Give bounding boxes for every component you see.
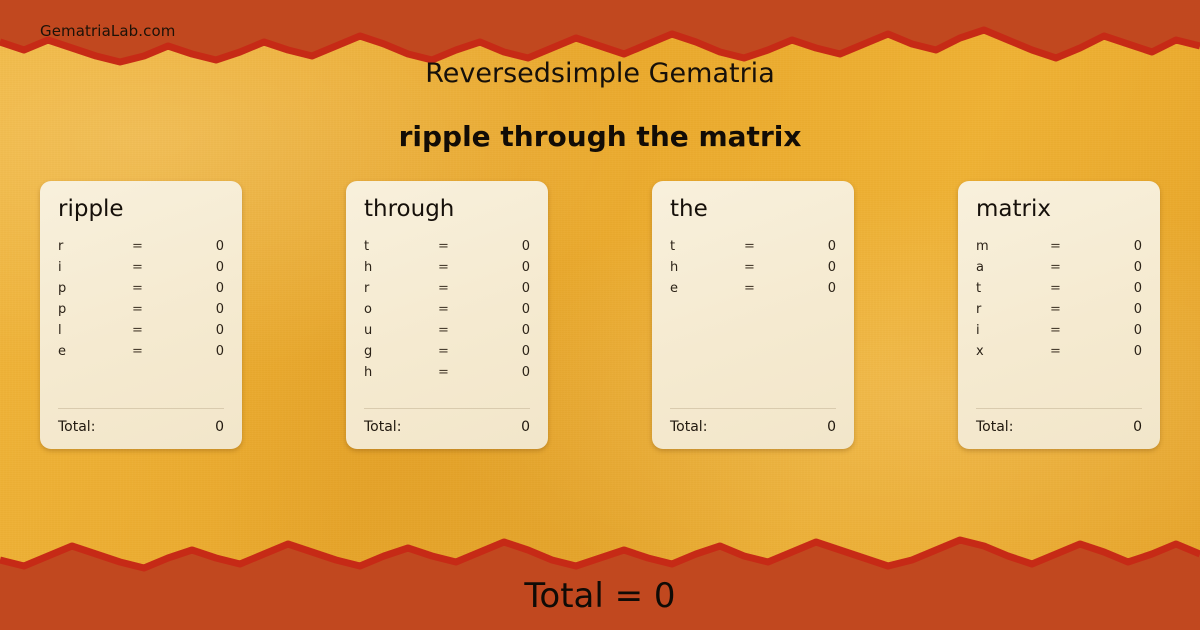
letter-row: r = 0 bbox=[976, 302, 1142, 323]
letter-row: p = 0 bbox=[58, 281, 224, 302]
card-divider bbox=[976, 408, 1142, 409]
letter-label: r bbox=[976, 302, 1050, 317]
letter-row: m = 0 bbox=[976, 239, 1142, 260]
letter-value: 0 bbox=[472, 239, 530, 254]
letter-row: r = 0 bbox=[58, 239, 224, 260]
letter-value: 0 bbox=[166, 302, 224, 317]
card-word-heading: through bbox=[364, 197, 530, 223]
equals-sign: = bbox=[438, 260, 472, 275]
equals-sign: = bbox=[1050, 239, 1084, 254]
letter-label: x bbox=[976, 344, 1050, 359]
letter-label: t bbox=[670, 239, 744, 254]
letter-value-list: t = 0 h = 0 e = 0 bbox=[670, 239, 836, 402]
equals-sign: = bbox=[132, 260, 166, 275]
letter-value: 0 bbox=[166, 281, 224, 296]
letter-label: a bbox=[976, 260, 1050, 275]
letter-row: t = 0 bbox=[670, 239, 836, 260]
letter-label: t bbox=[976, 281, 1050, 296]
letter-value-list: r = 0 i = 0 p = 0 p = 0 bbox=[58, 239, 224, 402]
letter-row: e = 0 bbox=[58, 344, 224, 365]
letter-row: l = 0 bbox=[58, 323, 224, 344]
letter-value: 0 bbox=[166, 344, 224, 359]
card-word-heading: the bbox=[670, 197, 836, 223]
card-word-heading: matrix bbox=[976, 197, 1142, 223]
letter-row: p = 0 bbox=[58, 302, 224, 323]
equals-sign: = bbox=[1050, 281, 1084, 296]
equals-sign: = bbox=[744, 260, 778, 275]
equals-sign: = bbox=[132, 281, 166, 296]
letter-row: r = 0 bbox=[364, 281, 530, 302]
letter-value: 0 bbox=[166, 239, 224, 254]
grand-total: Total = 0 bbox=[0, 576, 1200, 616]
equals-sign: = bbox=[438, 239, 472, 254]
letter-row: h = 0 bbox=[670, 260, 836, 281]
equals-sign: = bbox=[438, 281, 472, 296]
letter-value: 0 bbox=[778, 239, 836, 254]
card-divider bbox=[364, 408, 530, 409]
letter-label: u bbox=[364, 323, 438, 338]
card-total-value: 0 bbox=[215, 419, 224, 435]
card-total-label: Total: bbox=[670, 419, 827, 435]
letter-value: 0 bbox=[1084, 260, 1142, 275]
letter-label: i bbox=[976, 323, 1050, 338]
letter-label: i bbox=[58, 260, 132, 275]
letter-label: e bbox=[58, 344, 132, 359]
equals-sign: = bbox=[438, 323, 472, 338]
equals-sign: = bbox=[132, 239, 166, 254]
letter-label: h bbox=[364, 365, 438, 380]
letter-value-list: t = 0 h = 0 r = 0 o = 0 bbox=[364, 239, 530, 402]
letter-value: 0 bbox=[472, 281, 530, 296]
site-logo[interactable]: GematriaLab.com bbox=[40, 22, 175, 40]
letter-label: l bbox=[58, 323, 132, 338]
letter-row: i = 0 bbox=[976, 323, 1142, 344]
equals-sign: = bbox=[438, 365, 472, 380]
letter-value: 0 bbox=[1084, 239, 1142, 254]
letter-label: r bbox=[364, 281, 438, 296]
card-total-value: 0 bbox=[827, 419, 836, 435]
letter-value: 0 bbox=[1084, 344, 1142, 359]
letter-row: u = 0 bbox=[364, 323, 530, 344]
letter-value: 0 bbox=[778, 281, 836, 296]
letter-value: 0 bbox=[778, 260, 836, 275]
equals-sign: = bbox=[1050, 302, 1084, 317]
card-total-row: Total: 0 bbox=[670, 419, 836, 435]
letter-value: 0 bbox=[1084, 281, 1142, 296]
word-card: the t = 0 h = 0 e = 0 bbox=[652, 181, 854, 449]
letter-label: e bbox=[670, 281, 744, 296]
letter-row: e = 0 bbox=[670, 281, 836, 302]
equals-sign: = bbox=[438, 302, 472, 317]
letter-label: h bbox=[364, 260, 438, 275]
letter-label: o bbox=[364, 302, 438, 317]
phrase-title: ripple through the matrix bbox=[0, 120, 1200, 153]
word-card: through t = 0 h = 0 r = 0 o bbox=[346, 181, 548, 449]
letter-label: t bbox=[364, 239, 438, 254]
letter-label: m bbox=[976, 239, 1050, 254]
letter-row: o = 0 bbox=[364, 302, 530, 323]
letter-label: p bbox=[58, 281, 132, 296]
letter-value: 0 bbox=[472, 302, 530, 317]
card-total-row: Total: 0 bbox=[364, 419, 530, 435]
card-divider bbox=[58, 408, 224, 409]
letter-value: 0 bbox=[1084, 302, 1142, 317]
equals-sign: = bbox=[1050, 260, 1084, 275]
card-total-label: Total: bbox=[364, 419, 521, 435]
letter-label: h bbox=[670, 260, 744, 275]
letter-value: 0 bbox=[472, 260, 530, 275]
page-title: Reversedsimple Gematria bbox=[0, 58, 1200, 89]
card-total-row: Total: 0 bbox=[976, 419, 1142, 435]
word-card-list: ripple r = 0 i = 0 p = 0 p bbox=[40, 181, 1160, 451]
letter-label: p bbox=[58, 302, 132, 317]
card-total-row: Total: 0 bbox=[58, 419, 224, 435]
card-total-label: Total: bbox=[58, 419, 215, 435]
equals-sign: = bbox=[1050, 344, 1084, 359]
equals-sign: = bbox=[132, 302, 166, 317]
letter-value: 0 bbox=[472, 365, 530, 380]
letter-row: h = 0 bbox=[364, 260, 530, 281]
card-total-value: 0 bbox=[1133, 419, 1142, 435]
letter-label: r bbox=[58, 239, 132, 254]
letter-row: t = 0 bbox=[364, 239, 530, 260]
equals-sign: = bbox=[438, 344, 472, 359]
equals-sign: = bbox=[132, 323, 166, 338]
word-card: matrix m = 0 a = 0 t = 0 r bbox=[958, 181, 1160, 449]
card-total-value: 0 bbox=[521, 419, 530, 435]
letter-row: g = 0 bbox=[364, 344, 530, 365]
card-word-heading: ripple bbox=[58, 197, 224, 223]
letter-row: a = 0 bbox=[976, 260, 1142, 281]
letter-value: 0 bbox=[472, 344, 530, 359]
poster-canvas: GematriaLab.com Reversedsimple Gematria … bbox=[0, 0, 1200, 630]
letter-value: 0 bbox=[166, 323, 224, 338]
letter-value: 0 bbox=[472, 323, 530, 338]
letter-value-list: m = 0 a = 0 t = 0 r = 0 bbox=[976, 239, 1142, 402]
equals-sign: = bbox=[744, 239, 778, 254]
letter-label: g bbox=[364, 344, 438, 359]
equals-sign: = bbox=[744, 281, 778, 296]
letter-row: t = 0 bbox=[976, 281, 1142, 302]
letter-value: 0 bbox=[1084, 323, 1142, 338]
letter-value: 0 bbox=[166, 260, 224, 275]
letter-row: i = 0 bbox=[58, 260, 224, 281]
letter-row: h = 0 bbox=[364, 365, 530, 386]
letter-row: x = 0 bbox=[976, 344, 1142, 365]
card-total-label: Total: bbox=[976, 419, 1133, 435]
word-card: ripple r = 0 i = 0 p = 0 p bbox=[40, 181, 242, 449]
card-divider bbox=[670, 408, 836, 409]
equals-sign: = bbox=[1050, 323, 1084, 338]
equals-sign: = bbox=[132, 344, 166, 359]
